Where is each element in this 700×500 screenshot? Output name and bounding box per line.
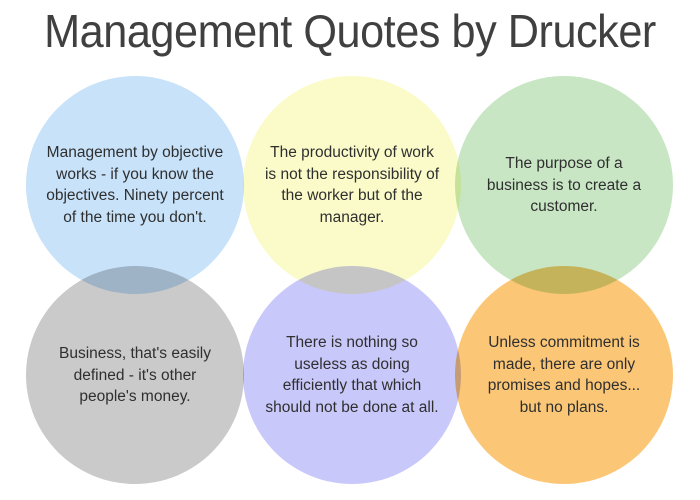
infographic-canvas: Management Quotes by Drucker Management … <box>0 0 700 500</box>
quote-text-1: Management by objective works - if you k… <box>46 142 224 228</box>
quote-text-2: The productivity of work is not the resp… <box>263 142 441 228</box>
page-title: Management Quotes by Drucker <box>21 2 679 60</box>
quote-text-5: There is nothing so useless as doing eff… <box>263 332 441 418</box>
quote-text-3: The purpose of a business is to create a… <box>475 153 653 218</box>
quote-text-6: Unless commitment is made, there are onl… <box>475 332 653 418</box>
venn-diagram: Management by objective works - if you k… <box>0 62 700 500</box>
quote-label-layer: Management by objective works - if you k… <box>0 62 700 500</box>
quote-text-4: Business, that's easily defined - it's o… <box>46 343 224 408</box>
